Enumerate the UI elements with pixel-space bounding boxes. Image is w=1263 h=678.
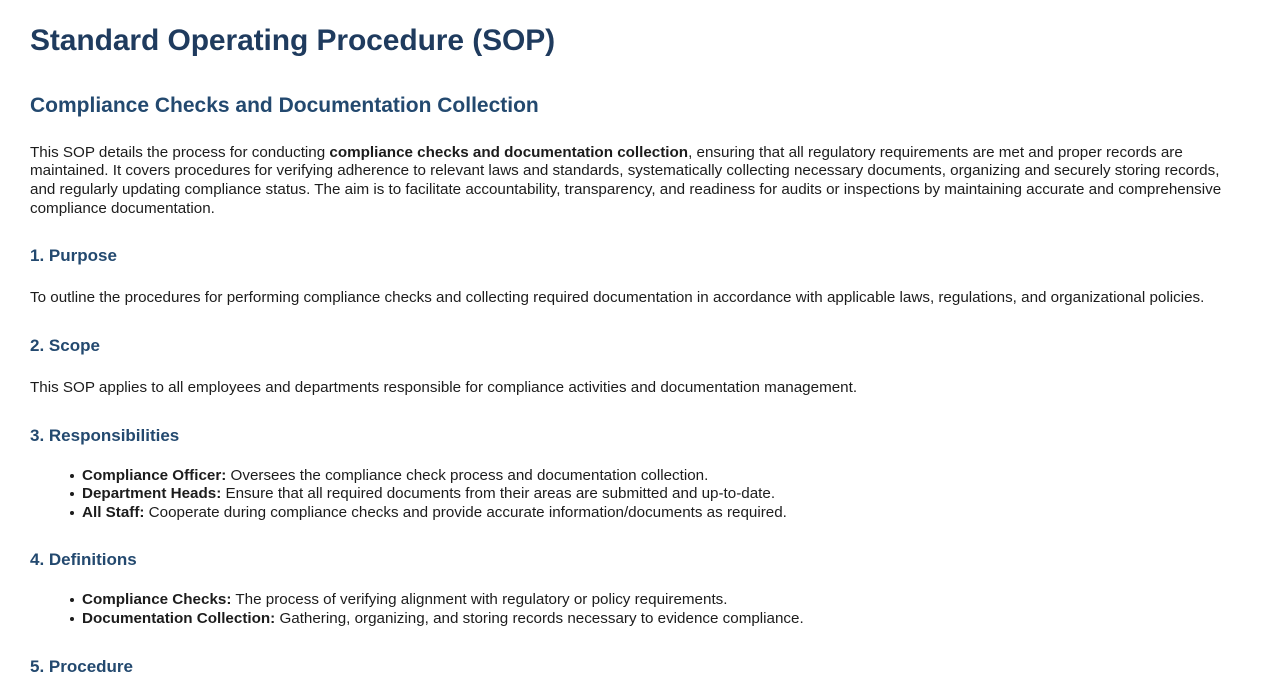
list-item: Compliance Checks: The process of verify… xyxy=(70,591,1233,610)
scope-paragraph: This SOP applies to all employees and de… xyxy=(30,379,1222,398)
list-item-term: All Staff: xyxy=(82,504,144,521)
section-heading-responsibilities: 3. Responsibilities xyxy=(30,425,1233,447)
section-heading-definitions: 4. Definitions xyxy=(30,549,1233,571)
list-item-term: Compliance Officer: xyxy=(82,467,226,484)
list-item-term: Compliance Checks: xyxy=(82,591,231,608)
list-item-term: Documentation Collection: xyxy=(82,610,275,627)
page-title: Standard Operating Procedure (SOP) xyxy=(30,22,1233,60)
purpose-paragraph: To outline the procedures for performing… xyxy=(30,289,1222,308)
list-item-description: Oversees the compliance check process an… xyxy=(226,467,708,484)
responsibilities-list: Compliance Officer: Oversees the complia… xyxy=(30,467,1233,523)
section-heading-purpose: 1. Purpose xyxy=(30,245,1233,267)
list-item-description: Gathering, organizing, and storing recor… xyxy=(275,610,803,627)
section-heading-procedure: 5. Procedure xyxy=(30,656,1233,678)
section-heading-scope: 2. Scope xyxy=(30,335,1233,357)
document-page: Standard Operating Procedure (SOP) Compl… xyxy=(0,0,1263,678)
definitions-list: Compliance Checks: The process of verify… xyxy=(30,591,1233,628)
list-item-description: Ensure that all required documents from … xyxy=(221,485,775,502)
intro-lead-text: This SOP details the process for conduct… xyxy=(30,144,329,161)
list-item-term: Department Heads: xyxy=(82,485,221,502)
list-item-description: The process of verifying alignment with … xyxy=(231,591,727,608)
document-subtitle: Compliance Checks and Documentation Coll… xyxy=(30,93,1233,119)
list-item: All Staff: Cooperate during compliance c… xyxy=(70,504,1233,523)
list-item: Department Heads: Ensure that all requir… xyxy=(70,485,1233,504)
intro-paragraph: This SOP details the process for conduct… xyxy=(30,144,1222,218)
list-item: Documentation Collection: Gathering, org… xyxy=(70,610,1233,629)
intro-emphasis-text: compliance checks and documentation coll… xyxy=(329,144,688,161)
list-item-description: Cooperate during compliance checks and p… xyxy=(144,504,786,521)
list-item: Compliance Officer: Oversees the complia… xyxy=(70,467,1233,486)
